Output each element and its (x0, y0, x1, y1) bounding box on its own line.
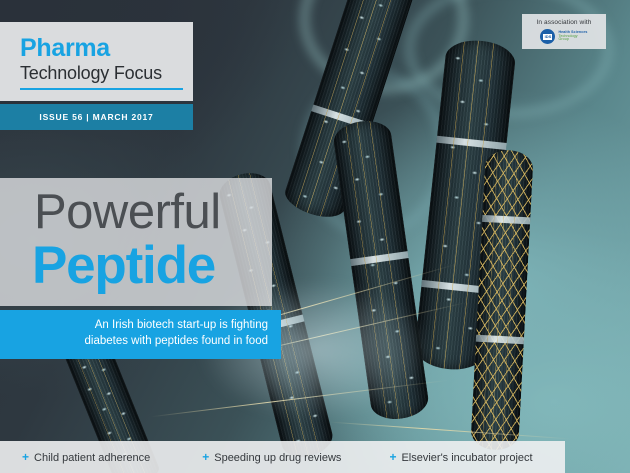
ids-logo-icon: IDS (540, 29, 555, 44)
dna-band (476, 335, 524, 345)
footer-headline-label: Elsevier's incubator project (401, 452, 532, 464)
association-label: In association with (526, 19, 602, 26)
dna-band (482, 215, 530, 225)
ids-logo-glyph: IDS (543, 34, 552, 40)
masthead-subtitle: Technology Focus (0, 63, 193, 84)
footer-headline-item[interactable]: + Speeding up drug reviews (202, 450, 341, 464)
footer-headline-item[interactable]: + Elsevier's incubator project (389, 450, 532, 464)
footer-headline-list: + Child patient adherence + Speeding up … (0, 441, 565, 473)
cover-title-line2: Peptide (0, 239, 272, 292)
masthead-panel: Pharma Technology Focus (0, 22, 193, 101)
cover-subtitle-line1: An Irish biotech start-up is fighting (0, 317, 268, 333)
association-logo: IDS Health Sciences Technology Group (526, 29, 602, 44)
issue-bar: ISSUE 56 | MARCH 2017 (0, 104, 193, 130)
dna-band (436, 136, 506, 150)
masthead-rule (20, 88, 183, 90)
cover-title-panel: Powerful Peptide (0, 178, 272, 306)
masthead-brand: Pharma (0, 36, 193, 62)
footer-headline-label: Speeding up drug reviews (214, 452, 341, 464)
cover-subtitle-band: An Irish biotech start-up is fighting di… (0, 310, 281, 359)
plus-icon: + (389, 450, 396, 464)
plus-icon: + (22, 450, 29, 464)
issue-text: ISSUE 56 | MARCH 2017 (39, 112, 153, 122)
footer-headline-item[interactable]: + Child patient adherence (22, 450, 150, 464)
association-wordmark-line3: Group (558, 38, 587, 42)
association-badge: In association with IDS Health Sciences … (522, 14, 606, 49)
plus-icon: + (202, 450, 209, 464)
footer-headline-label: Child patient adherence (34, 452, 150, 464)
association-wordmark: Health Sciences Technology Group (558, 31, 587, 42)
cover-title-line1: Powerful (0, 188, 272, 237)
magazine-cover: Pharma Technology Focus ISSUE 56 | MARCH… (0, 0, 630, 473)
cover-subtitle-line2: diabetes with peptides found in food (0, 333, 268, 349)
